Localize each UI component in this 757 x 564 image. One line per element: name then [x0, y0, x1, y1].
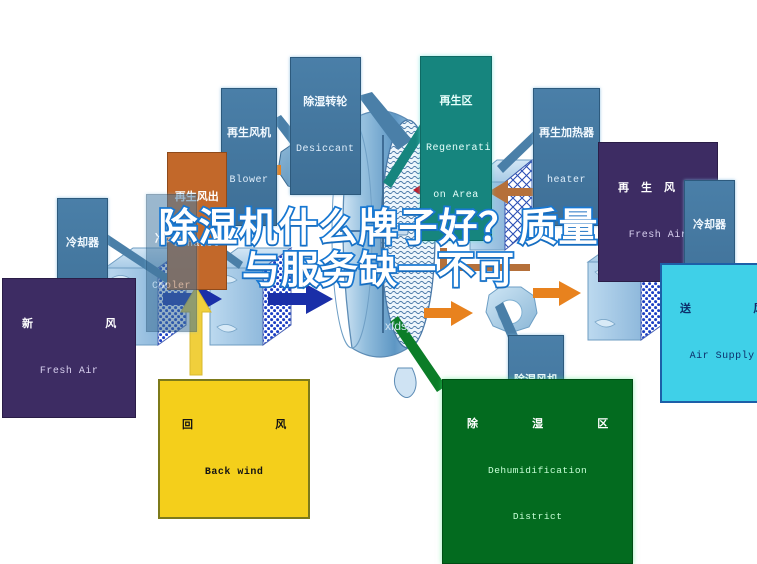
label-regen-heater[interactable]: 再生加热器 heater: [533, 88, 600, 226]
label-back-wind-en: Back wind: [168, 467, 300, 478]
label-regen-blower-en: Blower: [227, 175, 271, 186]
label-air-supply-en: Air Supply: [670, 351, 757, 362]
label-cooler-left-cn: 冷却器: [63, 237, 102, 249]
label-cooler-mid-cn: 冷却器: [152, 233, 191, 245]
label-regeneration-area-cn: 再生区: [426, 95, 486, 107]
label-regen-blower-cn: 再生风机: [227, 127, 271, 139]
label-regen-heater-cn: 再生加热器: [539, 127, 594, 139]
label-back-wind-cn: 回 风: [168, 419, 300, 431]
label-cooler-mid[interactable]: 冷却器 Cooler: [146, 194, 197, 332]
dry-air-arrow-1: [424, 301, 473, 326]
label-air-supply[interactable]: 送 风 Air Supply: [660, 263, 757, 403]
label-regen-blower[interactable]: 再生风机 Blower: [221, 88, 277, 226]
label-desiccant-wheel-en: Desiccant: [296, 144, 355, 155]
label-dehum-district-en2: District: [451, 512, 624, 523]
label-regeneration-area-en1: Regenerati: [426, 143, 486, 154]
label-dehum-district-cn: 除 湿 区: [451, 418, 624, 430]
label-regeneration-area[interactable]: 再生区 Regenerati on Area: [420, 56, 492, 241]
label-desiccant-wheel-cn: 除湿转轮: [296, 96, 355, 108]
label-cooler-right-cn: 冷却器: [690, 219, 729, 231]
dry-air-arrow-2: [533, 281, 581, 306]
label-back-wind[interactable]: 回 风 Back wind: [158, 379, 310, 519]
diagram-canvas: xfdsj 除湿转轮 Desiccant 再生风机 Blower 再生区 Reg…: [0, 0, 757, 488]
label-dehum-district-en1: Dehumidification: [451, 466, 624, 477]
label-fresh-air-en: Fresh Air: [10, 366, 128, 377]
label-fresh-air[interactable]: 新 风 Fresh Air: [2, 278, 136, 418]
label-dehumidification-district[interactable]: 除 湿 区 Dehumidification District: [442, 379, 633, 564]
label-regeneration-area-en2: on Area: [426, 190, 486, 201]
watermark-text: xfdsj: [385, 319, 410, 333]
label-desiccant-wheel[interactable]: 除湿转轮 Desiccant: [290, 57, 361, 195]
label-air-supply-cn: 送 风: [670, 303, 757, 315]
label-fresh-air-cn: 新 风: [10, 318, 128, 330]
label-regen-heater-en: heater: [539, 175, 594, 186]
label-cooler-mid-en: Cooler: [152, 281, 191, 292]
regen-return-line: [440, 248, 530, 271]
